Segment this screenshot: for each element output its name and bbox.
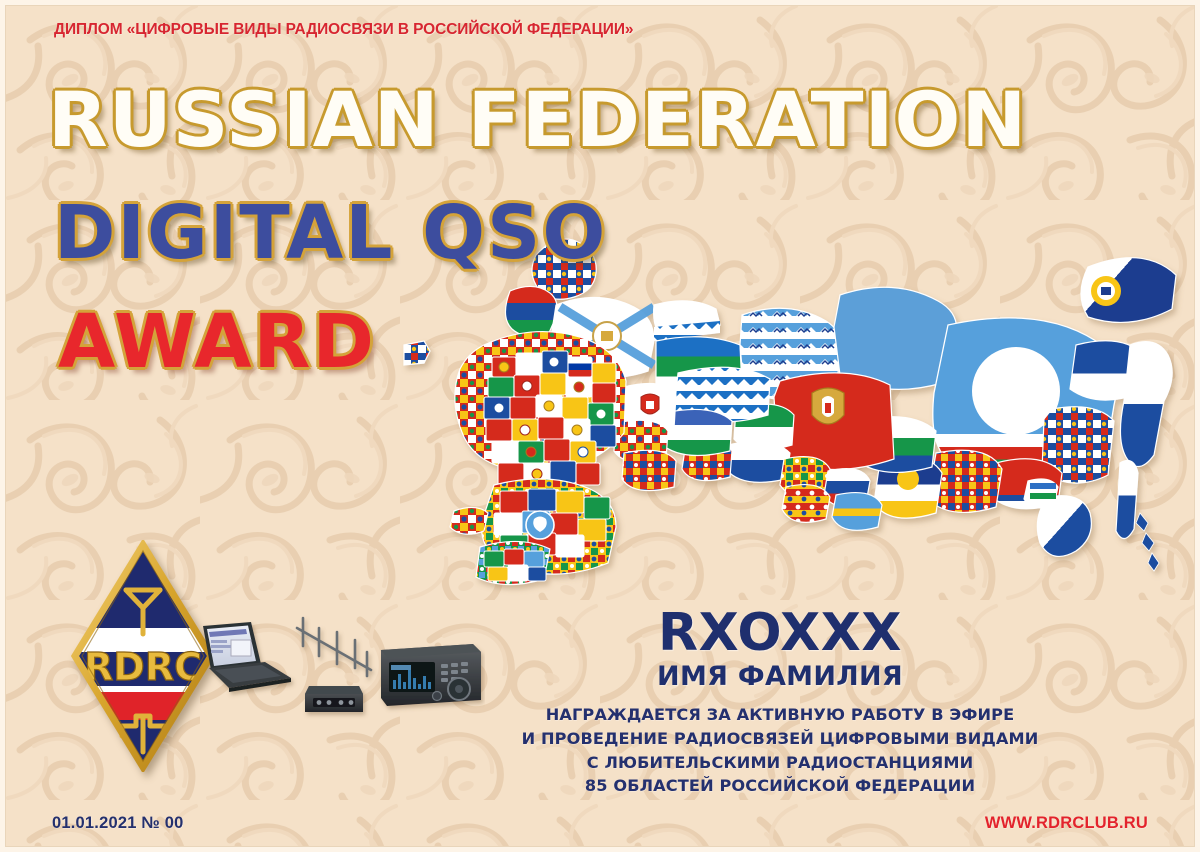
radio-equipment-illustration	[185, 612, 485, 720]
title-line-russian-federation: RUSSIAN FEDERATION	[48, 82, 1027, 158]
recipient-callsign: RXOXXX	[470, 607, 1090, 660]
hf-transceiver-icon	[381, 644, 481, 706]
diploma-header-caption: ДИПЛОМ «ЦИФРОВЫЕ ВИДЫ РАДИОСВЯЗИ В РОССИ…	[54, 21, 633, 39]
citation-line: 85 ОБЛАСТЕЙ РОССИЙСКОЙ ФЕДЕРАЦИИ	[470, 774, 1090, 798]
citation-line: С ЛЮБИТЕЛЬСКИМИ РАДИОСТАНЦИЯМИ	[470, 751, 1090, 775]
yagi-antenna-icon	[297, 618, 371, 676]
title-line-digital-qso: DIGITAL QSO	[54, 196, 607, 270]
title-line-award: AWARD	[58, 305, 376, 379]
recipient-block: RXOXXX ИМЯ ФАМИЛИЯ НАГРАЖДАЕТСЯ ЗА АКТИВ…	[470, 607, 1090, 798]
citation-text: НАГРАЖДАЕТСЯ ЗА АКТИВНУЮ РАБОТУ В ЭФИРЕ …	[470, 703, 1090, 798]
digital-interface-box-icon	[305, 686, 363, 712]
citation-line: И ПРОВЕДЕНИЕ РАДИОСВЯЗЕЙ ЦИФРОВЫМИ ВИДАМ…	[470, 727, 1090, 751]
laptop-icon	[203, 622, 291, 692]
award-certificate: ДИПЛОМ «ЦИФРОВЫЕ ВИДЫ РАДИОСВЯЗИ В РОССИ…	[0, 0, 1200, 852]
recipient-name: ИМЯ ФАМИЛИЯ	[470, 661, 1090, 692]
citation-line: НАГРАЖДАЕТСЯ ЗА АКТИВНУЮ РАБОТУ В ЭФИРЕ	[470, 703, 1090, 727]
award-date-and-number: 01.01.2021 № 00	[52, 814, 184, 833]
club-website-link[interactable]: WWW.RDRCLUB.RU	[985, 814, 1148, 833]
